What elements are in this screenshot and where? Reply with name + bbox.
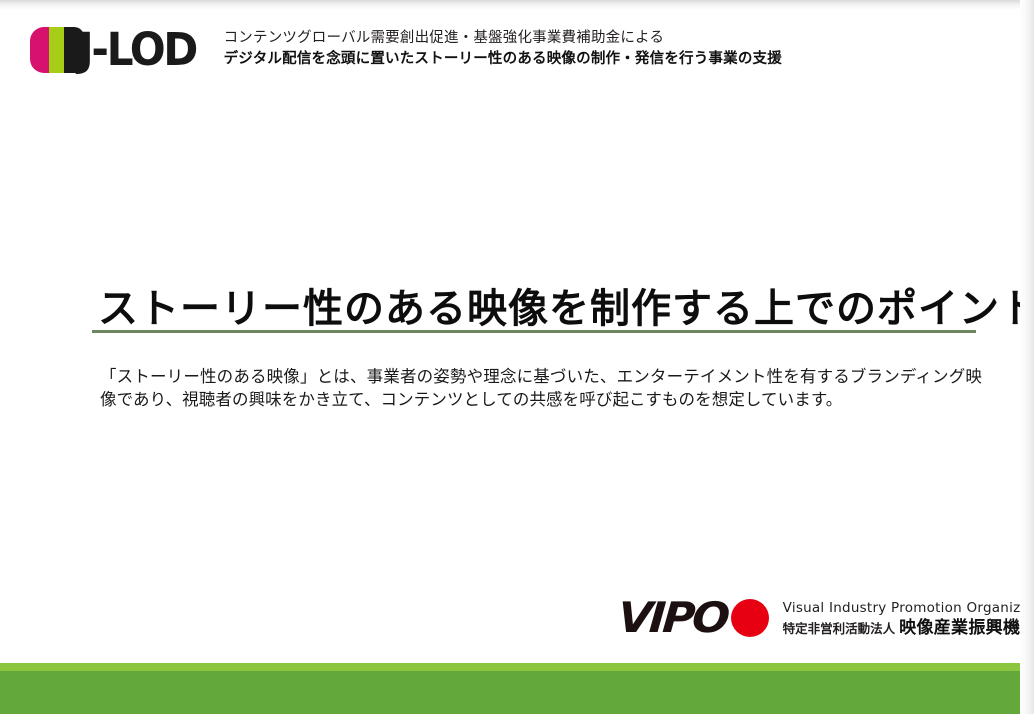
page-right-shadow [1020, 0, 1034, 714]
header-line-1: コンテンツグローバル需要創出促進・基盤強化事業費補助金による [224, 29, 782, 48]
vipo-red-circle-icon [731, 599, 769, 637]
footer-bar-light-green [0, 663, 1034, 671]
vipo-entity-type: 特定非営利活動法人 [783, 621, 896, 636]
slide-page: J-LOD コンテンツグローバル需要創出促進・基盤強化事業費補助金による デジタ… [0, 0, 1034, 714]
jlod-color-bars-icon [30, 27, 84, 73]
vipo-mark: VIPO [618, 596, 769, 640]
jlod-logo: J-LOD [30, 26, 204, 74]
vipo-logo: VIPO Visual Industry Promotion Organizat… [618, 596, 1034, 640]
footer-bar-dark-green [0, 671, 1034, 714]
title-underline-rule [92, 330, 976, 333]
slide-header: J-LOD コンテンツグローバル需要創出促進・基盤強化事業費補助金による デジタ… [30, 26, 782, 74]
page-top-shadow [0, 0, 1034, 10]
vipo-name-japanese-main: 映像産業振興機構 [899, 618, 1034, 638]
header-line-2: デジタル配信を念頭に置いたストーリー性のある映像の制作・発信を行う事業の支援 [224, 49, 782, 69]
header-subsidy-text: コンテンツグローバル需要創出促進・基盤強化事業費補助金による デジタル配信を念頭… [224, 26, 782, 69]
slide-title: ストーリー性のある映像を制作する上でのポイント [98, 283, 1034, 335]
slide-body-text: 「ストーリー性のある映像」とは、事業者の姿勢や理念に基づいた、エンターテイメント… [100, 365, 982, 412]
vipo-name-english: Visual Industry Promotion Organization [783, 599, 1034, 617]
vipo-name-japanese: 特定非営利活動法人映像産業振興機構 [783, 618, 1034, 639]
vipo-wordmark: VIPO [616, 596, 728, 640]
jlod-bar-magenta [30, 27, 49, 73]
jlod-wordmark: J-LOD [78, 27, 196, 73]
vipo-name-block: Visual Industry Promotion Organization 特… [783, 597, 1034, 639]
